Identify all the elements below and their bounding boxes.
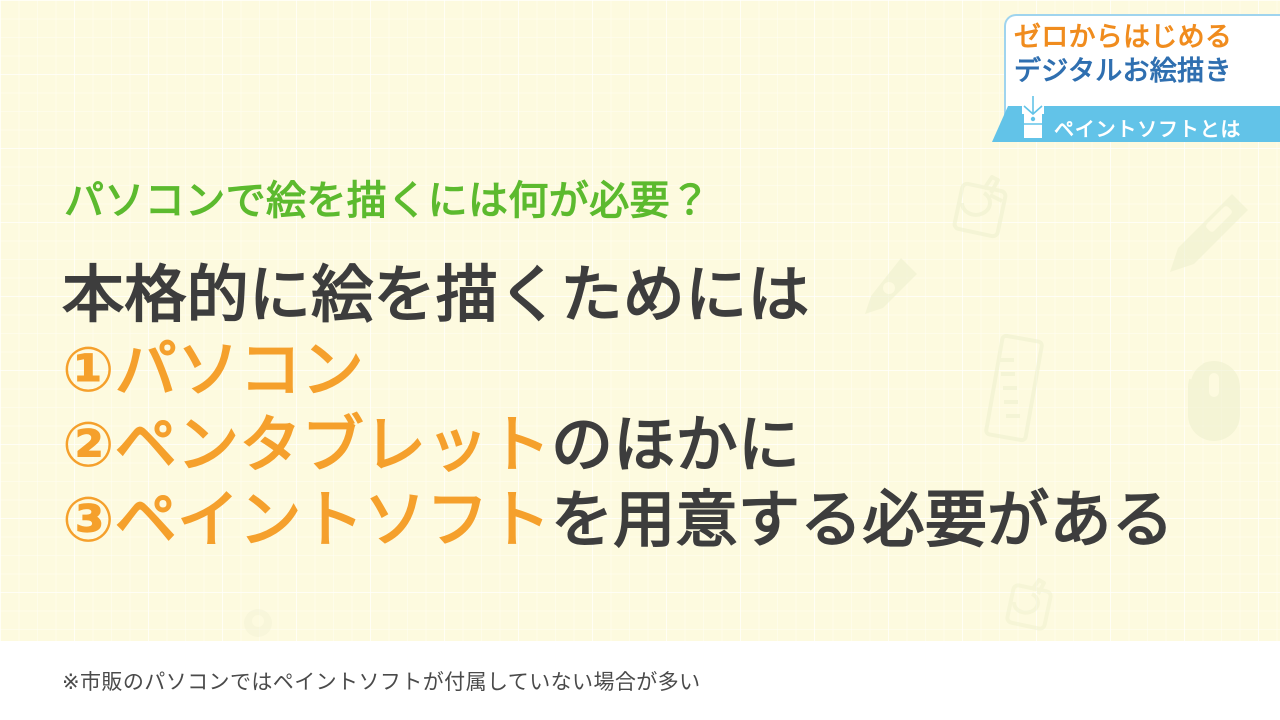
series-badge-title-line2: デジタルお絵描き (1014, 54, 1274, 88)
pen-nib-icon (1018, 94, 1048, 147)
body-line-4-tail: を用意する必要がある (551, 486, 1174, 555)
slide-canvas: パソコンで絵を描くには何が必要？ 本格的に絵を描くためには ①パソコン ②ペンタ… (0, 0, 1280, 720)
body-line-4-highlight: ③ペイントソフト (62, 486, 551, 555)
series-badge-titles: ゼロからはじめる デジタルお絵描き (1014, 20, 1274, 88)
series-badge-ribbon-label: ペイントソフトとは (1054, 113, 1241, 142)
footnote-text: ※市販のパソコンではペイントソフトが付属していない場合が多い (62, 666, 701, 696)
body-line-3-highlight: ②ペンタブレット (62, 411, 551, 480)
series-badge: ゼロからはじめる デジタルお絵描き ペイントソフトとは (992, 14, 1280, 142)
body-line-1-text: 本格的に絵を描くためには (62, 261, 810, 330)
body-line-3: ②ペンタブレットのほかに (62, 408, 1174, 483)
body-line-2: ①パソコン (62, 333, 1174, 408)
body-line-3-tail: のほかに (551, 411, 800, 480)
series-badge-title-line1: ゼロからはじめる (1014, 20, 1274, 54)
body-line-4: ③ペイントソフトを用意する必要がある (62, 483, 1174, 558)
body-line-2-highlight: ①パソコン (62, 336, 364, 405)
body-line-1: 本格的に絵を描くためには (62, 258, 1174, 333)
section-kicker-heading: パソコンで絵を描くには何が必要？ (64, 178, 710, 224)
main-body-text: 本格的に絵を描くためには ①パソコン ②ペンタブレットのほかに ③ペイントソフト… (62, 258, 1174, 558)
